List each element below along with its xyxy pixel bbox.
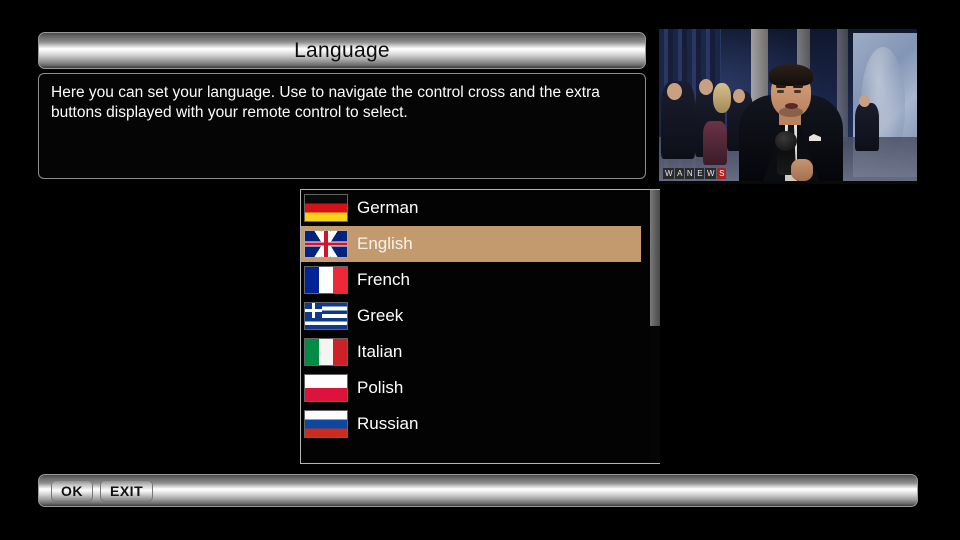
preview-crowd-figure <box>713 83 731 113</box>
flag-russia-icon <box>305 411 347 437</box>
reporter-hand <box>791 159 813 181</box>
vertical-scrollbar-thumb[interactable] <box>650 190 660 326</box>
flag-greece-icon <box>305 303 347 329</box>
reporter-eye <box>794 90 801 93</box>
list-item-label: Polish <box>357 378 403 398</box>
help-text-panel: Here you can set your language. Use to n… <box>38 73 646 179</box>
flag-italy-icon <box>305 339 347 365</box>
language-list[interactable]: German English French Greek Italian Poli… <box>300 189 660 464</box>
news-bug-letter: A <box>675 168 684 179</box>
list-item-french[interactable]: French <box>301 262 659 298</box>
list-item-russian[interactable]: Russian <box>301 406 659 442</box>
news-bug-letter: E <box>695 168 704 179</box>
ok-button-label: OK <box>61 483 83 499</box>
help-text: Here you can set your language. Use to n… <box>51 83 633 123</box>
preview-crowd-head <box>699 79 713 95</box>
tv-settings-screen: Language Here you can set your language.… <box>0 0 960 540</box>
page-title: Language <box>294 39 390 63</box>
exit-button-label: EXIT <box>110 483 143 499</box>
softkey-bar: OK EXIT <box>38 474 918 507</box>
preview-crowd-figure <box>703 121 727 165</box>
news-bug-letter: W <box>705 168 716 179</box>
reporter-eyebrow <box>793 85 803 88</box>
list-item-italian[interactable]: Italian <box>301 334 659 370</box>
preview-crowd-head <box>733 89 745 103</box>
reporter-hair <box>769 64 813 86</box>
list-item-polish[interactable]: Polish <box>301 370 659 406</box>
list-item-label: German <box>357 198 418 218</box>
list-item-label: Italian <box>357 342 402 362</box>
list-item-label: English <box>357 234 413 254</box>
news-bug-letter: N <box>685 168 694 179</box>
list-item-english[interactable]: English <box>301 226 641 262</box>
flag-united-kingdom-icon <box>305 231 347 257</box>
news-bug-letter: W <box>663 168 674 179</box>
reporter-eyebrow <box>776 85 786 88</box>
news-bug-letter: S <box>717 168 726 179</box>
list-item-german[interactable]: German <box>301 190 659 226</box>
flag-france-icon <box>305 267 347 293</box>
list-item-label: Russian <box>357 414 418 434</box>
flag-poland-icon <box>305 375 347 401</box>
preview-crowd-head <box>667 83 682 100</box>
microphone-head <box>775 131 797 151</box>
preview-crowd-head <box>859 95 870 107</box>
list-item-greek[interactable]: Greek <box>301 298 659 334</box>
ok-button[interactable]: OK <box>51 480 93 502</box>
list-item-label: Greek <box>357 306 403 326</box>
tv-preview-window[interactable]: W A N E W S <box>659 29 917 184</box>
preview-crowd-figure <box>855 103 879 151</box>
reporter-eye <box>777 90 784 93</box>
exit-button[interactable]: EXIT <box>100 480 153 502</box>
news-channel-logo: W A N E W S <box>663 168 727 179</box>
list-item-label: French <box>357 270 410 290</box>
reporter-mouth <box>785 103 798 109</box>
flag-germany-icon <box>305 195 347 221</box>
page-title-bar: Language <box>38 32 646 69</box>
